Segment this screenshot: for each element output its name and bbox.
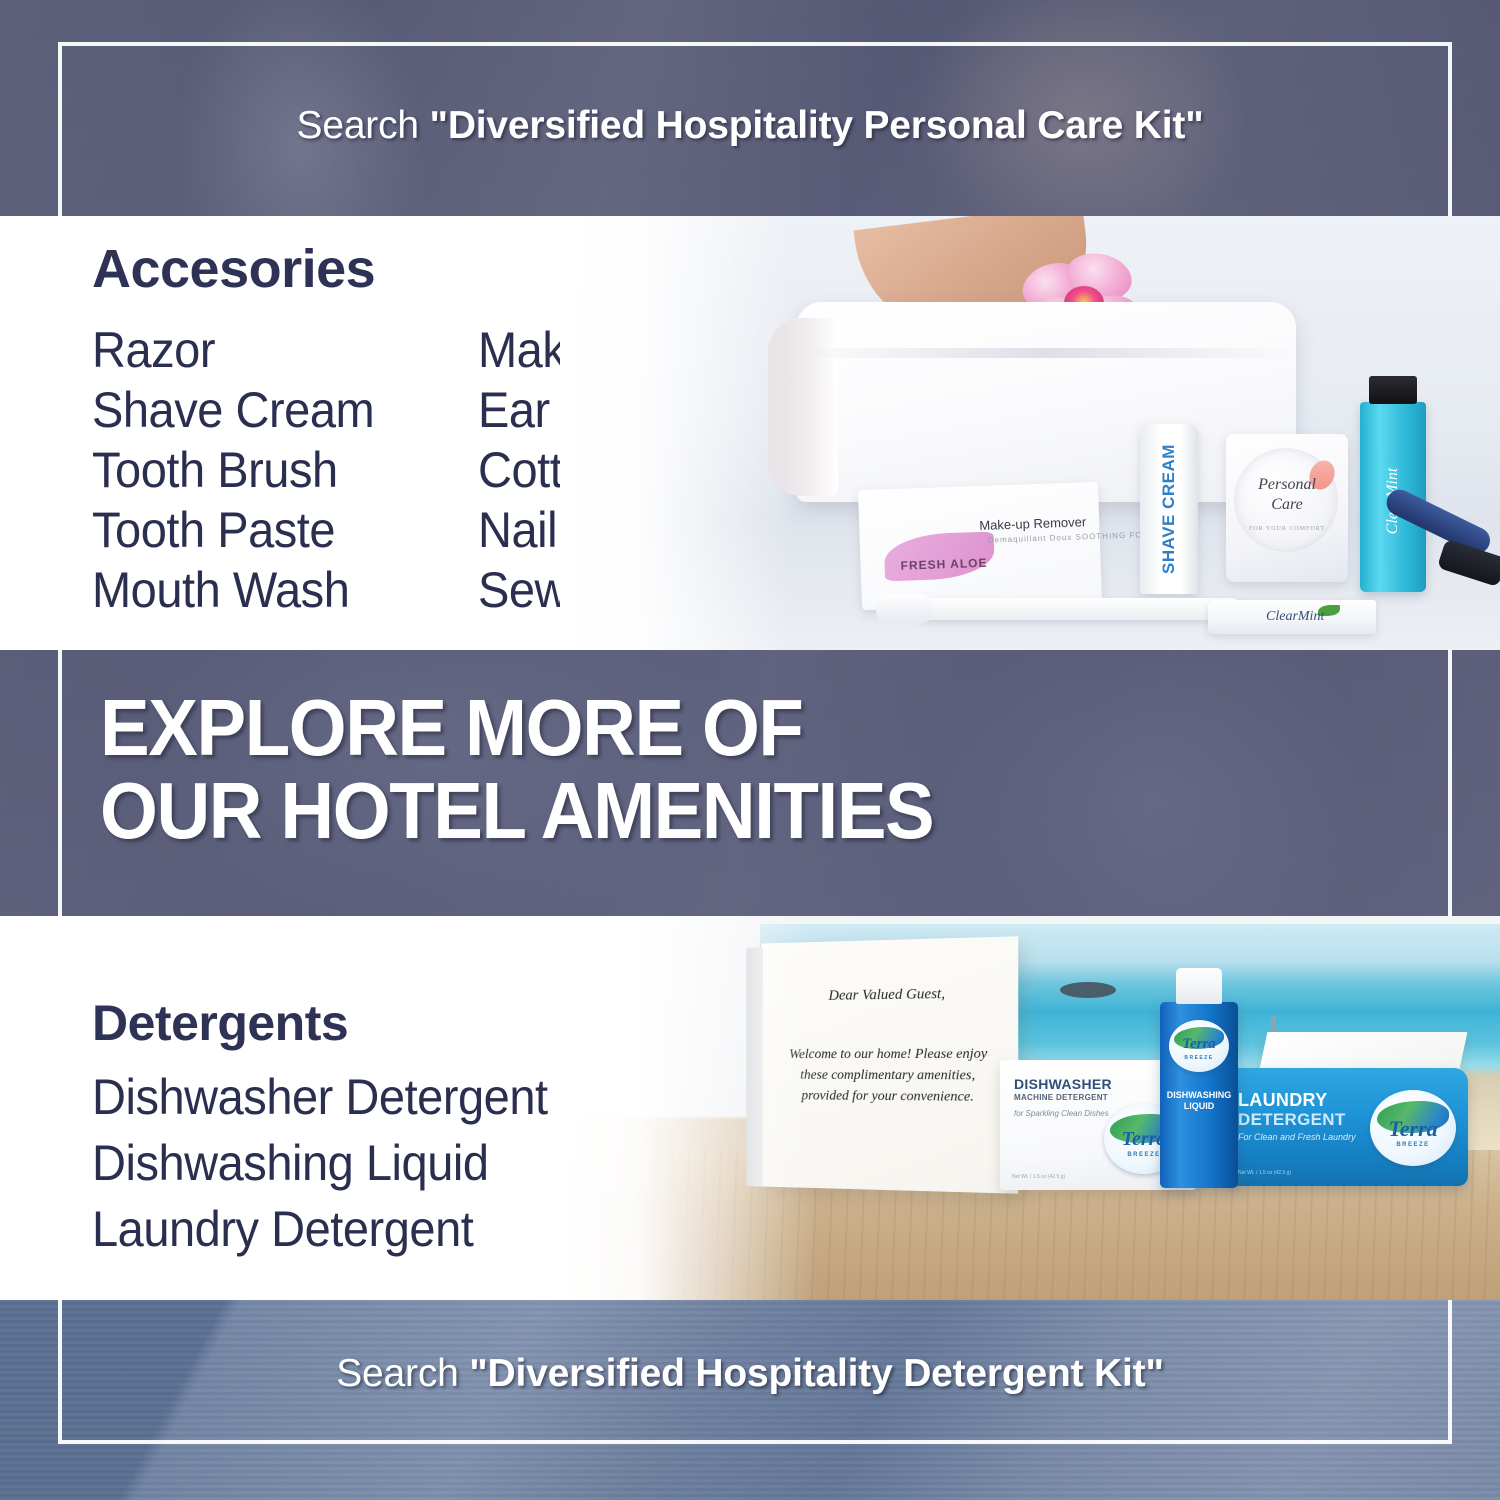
toothpaste-tube: ClearMint (1208, 600, 1376, 634)
mid-banner-line-1: EXPLORE MORE OF (100, 686, 933, 769)
laundry-title-1: LAUNDRY (1238, 1090, 1327, 1111)
dishwasher-title: DISHWASHER (1014, 1076, 1112, 1092)
brand-sub: BREEZE (1169, 1055, 1229, 1061)
bottom-banner-tint (0, 1300, 1500, 1500)
makeup-remover-sachet: Make-up Remover Demaquillant Doux SOOTHI… (858, 482, 1102, 610)
top-banner-query: "Diversified Hospitality Personal Care K… (430, 104, 1204, 147)
personal-care-line-1: Personal (1226, 476, 1348, 494)
personal-care-line-2: Care (1226, 496, 1348, 514)
detergent-kit-photo: Dear Valued Guest, Welcome to our home! … (560, 916, 1500, 1300)
mid-banner-text: EXPLORE MORE OF OUR HOTEL AMENITIES (100, 686, 933, 852)
laundry-title-2: DETERGENT (1238, 1110, 1346, 1130)
laundry-descriptor: For Clean and Fresh Laundry (1238, 1132, 1356, 1142)
list-item: Dishwasher Detergent (92, 1064, 548, 1130)
makeup-remover-title: Make-up Remover (979, 514, 1086, 533)
personal-care-kit-photo: Make-up Remover Demaquillant Doux SOOTHI… (560, 216, 1500, 650)
dishwasher-descriptor: for Sparkling Clean Dishes (1014, 1108, 1109, 1119)
bottom-banner-query: "Diversified Hospitality Detergent Kit" (469, 1352, 1164, 1395)
laundry-detergent-pouch: LAUNDRY DETERGENT For Clean and Fresh La… (1224, 1068, 1468, 1186)
dishwashing-liquid-bottle: Terra BREEZE DISHWASHING LIQUID (1160, 1002, 1238, 1188)
brand-sub: BREEZE (1370, 1142, 1456, 1148)
detergents-heading: Detergents (92, 994, 348, 1052)
terra-breeze-logo: Terra BREEZE (1169, 1020, 1229, 1072)
detergents-list: Dishwasher Detergent Dishwashing Liquid … (92, 1064, 577, 1262)
list-item: Dishwashing Liquid (92, 1130, 548, 1196)
shave-cream-label: SHAVE CREAM (1159, 444, 1179, 574)
shave-cream-tube: SHAVE CREAM (1140, 424, 1198, 594)
personal-care-footer: FOR YOUR COMFORT (1226, 526, 1348, 532)
toothbrush (912, 598, 1242, 620)
list-item: Tooth Paste (92, 500, 374, 560)
list-item: Razor (92, 320, 374, 380)
toothpaste-brand: ClearMint (1266, 609, 1324, 625)
bottle-cap (1369, 376, 1417, 404)
top-search-banner: Search "Diversified Hospitality Personal… (0, 0, 1500, 216)
accessories-heading: Accesories (92, 238, 375, 300)
personal-care-disc: Personal Care FOR YOUR COMFORT (1226, 434, 1348, 582)
infographic-page: Search "Diversified Hospitality Personal… (0, 0, 1500, 1500)
photo-left-fade (560, 216, 790, 650)
accessories-column-1: Razor Shave Cream Tooth Brush Tooth Past… (92, 320, 392, 620)
terra-breeze-logo: Terra BREEZE (1370, 1090, 1456, 1166)
brand-name: Terra (1169, 1036, 1229, 1053)
mid-banner-line-2: OUR HOTEL AMENITIES (100, 769, 933, 852)
dishwasher-subtitle: MACHINE DETERGENT (1014, 1093, 1108, 1102)
list-item: Tooth Brush (92, 440, 374, 500)
explore-more-banner: EXPLORE MORE OF OUR HOTEL AMENITIES (0, 650, 1500, 916)
bottom-search-banner: Search "Diversified Hospitality Detergen… (0, 1300, 1500, 1500)
dishwasher-net-weight: Net Wt. / 1.5 oz (42.5 g) (1012, 1174, 1065, 1180)
top-banner-prefix: Search (297, 104, 430, 147)
photo-left-fade (560, 916, 820, 1300)
list-item: Mouth Wash (92, 560, 374, 620)
list-item: Laundry Detergent (92, 1196, 548, 1262)
razor (1388, 474, 1500, 604)
rock-icon (1060, 982, 1116, 998)
laundry-net-weight: Net Wt. / 1.5 oz (42.5 g) (1238, 1170, 1291, 1176)
brand-name: Terra (1370, 1116, 1456, 1142)
bottom-banner-text: Search "Diversified Hospitality Detergen… (0, 1352, 1500, 1396)
dishwashing-liquid-title: DISHWASHING LIQUID (1160, 1090, 1238, 1113)
bottle-cap (1176, 968, 1222, 1004)
bottom-banner-prefix: Search (336, 1352, 469, 1395)
list-item: Shave Cream (92, 380, 374, 440)
top-banner-text: Search "Diversified Hospitality Personal… (0, 104, 1500, 148)
folded-towel (796, 302, 1296, 502)
